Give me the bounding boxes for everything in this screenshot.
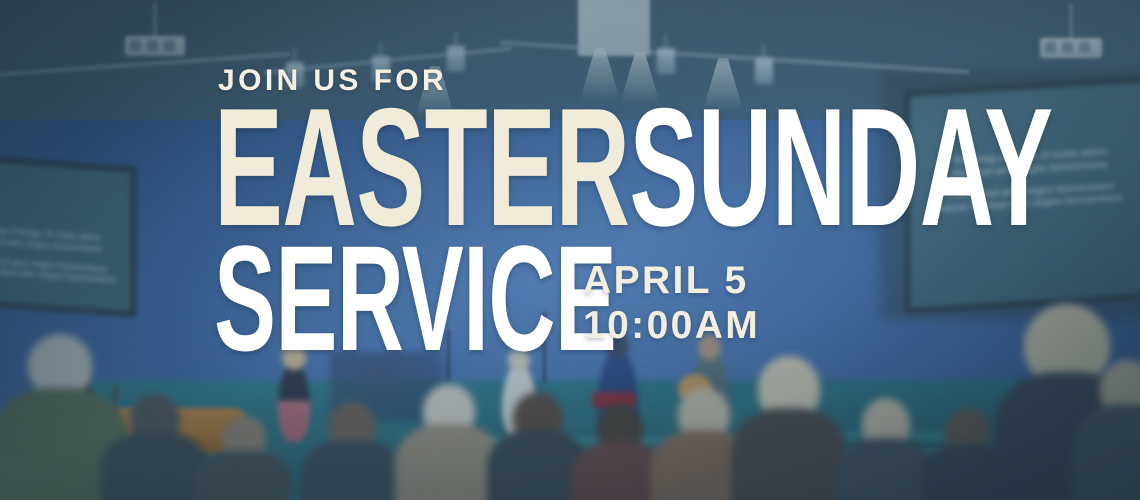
headline-sunday: SUNDAY bbox=[629, 73, 1052, 261]
event-date: APRIL 5 bbox=[583, 259, 749, 302]
easter-sunday-banner: The King of kings, O come adore Our God … bbox=[0, 0, 1140, 500]
subhead-service: SERVICE bbox=[214, 240, 616, 357]
event-details: APRIL 5 10:00AM bbox=[583, 258, 760, 348]
event-time: 10:00AM bbox=[583, 303, 760, 348]
banner-content: JOIN US FOR EASTERSUNDAY SERVICE APRIL 5… bbox=[0, 0, 1140, 500]
